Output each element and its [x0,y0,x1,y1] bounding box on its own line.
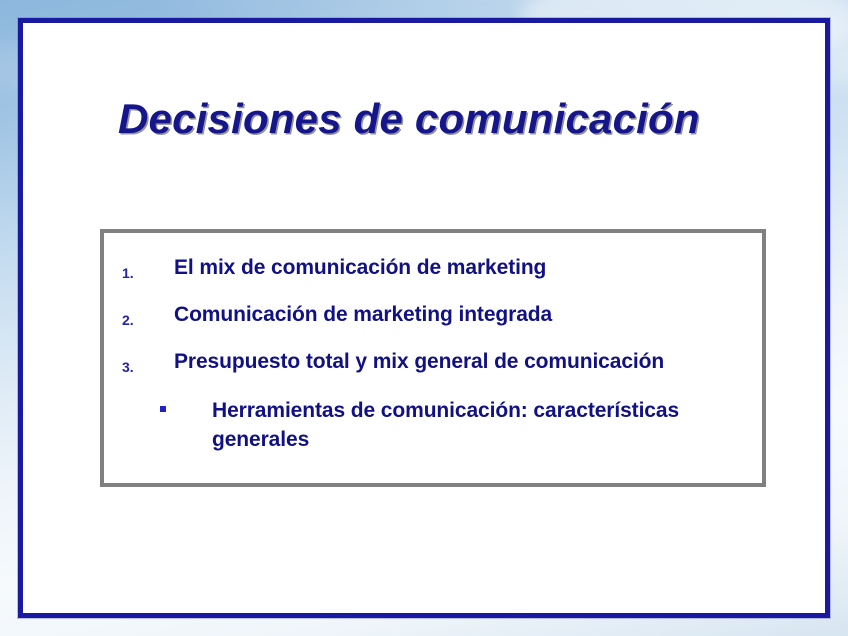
list-item-number: 3. [122,349,174,380]
agenda-content-box: 1. El mix de comunicación de marketing 2… [100,229,766,487]
slide-canvas: Decisiones de comunicación 1. El mix de … [0,0,848,636]
square-bullet-icon [160,396,212,412]
list-item-number: 2. [122,302,174,333]
list-item: 1. El mix de comunicación de marketing [122,255,752,286]
page-title: Decisiones de comunicación [118,95,778,143]
list-item: 3. Presupuesto total y mix general de co… [122,349,752,380]
sub-list-item-label: Herramientas de comunicación: caracterís… [212,396,732,454]
slide-frame: Decisiones de comunicación 1. El mix de … [18,18,830,618]
list-item: 2. Comunicación de marketing integrada [122,302,752,333]
list-item-label: El mix de comunicación de marketing [174,255,752,281]
sub-list-item: Herramientas de comunicación: caracterís… [160,396,752,454]
list-item-label: Presupuesto total y mix general de comun… [174,349,752,375]
list-item-label: Comunicación de marketing integrada [174,302,752,328]
agenda-list: 1. El mix de comunicación de marketing 2… [122,255,752,454]
square-bullet-glyph [160,406,166,412]
list-item-number: 1. [122,255,174,286]
